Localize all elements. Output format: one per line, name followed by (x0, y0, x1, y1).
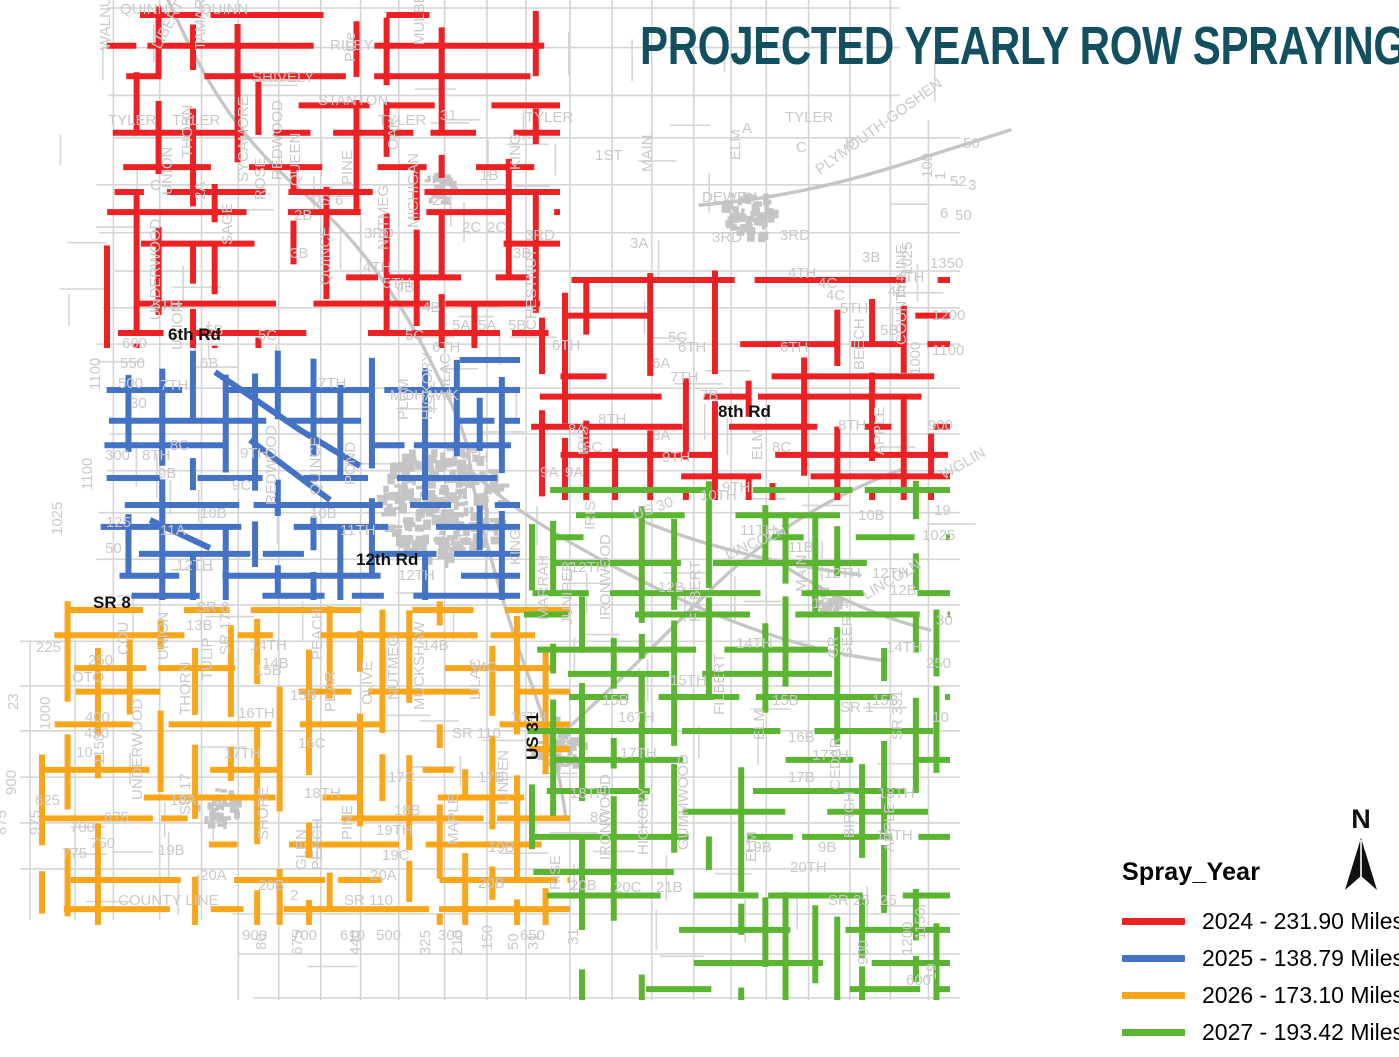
road-label: 1100 (932, 342, 964, 359)
urban-block (463, 488, 467, 499)
road-label: ELM (727, 129, 744, 160)
road-label: 900 (3, 770, 20, 795)
road-label: 8C (772, 439, 791, 456)
road-label: 5A (478, 317, 496, 334)
urban-block (474, 493, 482, 503)
road-label: 80 (253, 933, 270, 950)
road-label: 550 (120, 355, 145, 372)
road-label: 6 (940, 205, 948, 222)
road-label: 6B (200, 355, 218, 372)
road-label: 225 (36, 639, 61, 656)
road-label: C (796, 139, 807, 156)
urban-block (426, 511, 435, 517)
road-label: MULBERRY (411, 0, 428, 45)
road-label: 19TH (876, 827, 913, 844)
road-label: 1150 (91, 733, 108, 765)
urban-block (427, 176, 431, 181)
road-label: GUMMWOOD (675, 754, 692, 850)
legend-swatch-2027 (1122, 1029, 1185, 1036)
urban-block (402, 454, 413, 462)
road-label: 12TH (176, 557, 213, 574)
road-label: 2A (192, 182, 209, 200)
legend-label-2025: 2025 - 138.79 Miles (1202, 945, 1399, 972)
road-label: COUNTY LINE (118, 892, 219, 909)
urban-block (483, 492, 487, 501)
road-label: 15B (602, 692, 629, 709)
road-label: 12TH (398, 567, 435, 584)
road-label: 250 (926, 655, 951, 672)
road-label: MAIN (793, 555, 810, 593)
road-label: 1025 (899, 242, 916, 275)
road-label: 2A (432, 192, 450, 209)
road-label: DEWEY (702, 189, 757, 206)
road-label: 4C (818, 275, 837, 292)
road-label: US 6 (310, 192, 343, 209)
urban-block (423, 535, 429, 545)
urban-block (763, 193, 769, 196)
urban-block (209, 810, 216, 815)
road-label: SAGE (219, 203, 236, 245)
urban-block (215, 788, 220, 791)
urban-block (448, 553, 454, 563)
road-label: SR 25 (828, 892, 870, 909)
road-label: 19B (158, 842, 185, 859)
road-label: 6TH (552, 337, 580, 354)
road-label: 25 (880, 892, 897, 909)
road-label: ELM (751, 709, 768, 740)
road-label: KING (507, 528, 524, 565)
road-label: 5C (258, 327, 277, 344)
road-label: TAMARACK (192, 0, 209, 50)
road-label: 7TH (670, 369, 698, 386)
road-label: 5TH (383, 275, 411, 292)
road-label: BEECH (851, 318, 868, 370)
road-label: 12B (658, 579, 685, 596)
road-label: 20B (478, 875, 505, 892)
road-label: SR 17 (217, 613, 234, 655)
road-label: 9B (818, 839, 836, 856)
road-label: 20A (200, 867, 227, 884)
road-label: 5A (452, 317, 470, 334)
road-label: THORN (177, 662, 194, 715)
road-label: GLEN (293, 829, 310, 870)
urban-block (387, 474, 394, 485)
road-label: STANTON (318, 92, 388, 109)
urban-block (482, 537, 487, 547)
road-label: ROSE (252, 157, 269, 200)
road-label: TYLER (785, 109, 834, 126)
road-label: 1000 (907, 342, 924, 375)
road-label: 3 (968, 177, 976, 194)
road-label: LILAC (467, 658, 484, 700)
urban-block (495, 484, 504, 491)
road-label: 210 (449, 930, 466, 955)
road-label: 3RD (525, 227, 555, 244)
major-road-label: SR 8 (93, 593, 131, 612)
road-label: 15B (772, 692, 799, 709)
road-label: SR 17 (177, 773, 194, 815)
road-label: PINE (339, 805, 356, 840)
legend-item-2025[interactable]: 2025 - 138.79 Miles (1118, 940, 1393, 977)
road-label: 10B (200, 505, 227, 522)
road-label: 20B (258, 877, 285, 894)
urban-block (423, 519, 431, 530)
road-label: 52 (950, 173, 967, 190)
urban-block (757, 212, 765, 216)
urban-block (389, 524, 395, 532)
road-label: SYCAMORE (235, 96, 252, 182)
road-label: 2C (462, 219, 481, 236)
road-label: LILAC (437, 353, 454, 395)
road-label: SHIVELY (252, 69, 314, 86)
road-label: 17C (388, 769, 416, 786)
urban-block (394, 484, 404, 487)
road-label: 1025 (922, 527, 955, 544)
road-label: 17TH (812, 747, 849, 764)
road-label: FILBERT (711, 654, 728, 715)
road-label: 19B (745, 839, 772, 856)
urban-block (405, 465, 411, 475)
road-label: 12TH (824, 565, 861, 582)
road-label: 3RD (780, 227, 810, 244)
road-label: KING (507, 133, 524, 170)
urban-block (439, 469, 444, 472)
road-label: 1150 (912, 908, 929, 940)
road-label: UNION (159, 147, 176, 195)
road-label: 150 (479, 925, 496, 950)
road-label: 9A (565, 464, 583, 481)
urban-block (764, 219, 768, 227)
road-label: 15TH (670, 672, 707, 689)
urban-block (571, 739, 576, 745)
urban-block (230, 805, 239, 813)
legend-label-2026: 2026 - 173.10 Miles (1202, 982, 1399, 1009)
road-label: 50 (105, 540, 122, 557)
road-label: SR 110 (452, 725, 501, 742)
road-label: WGLIN (938, 444, 989, 483)
road-label: PINE (339, 150, 356, 185)
road-label: 1100 (87, 358, 104, 390)
urban-block (758, 234, 765, 243)
road-label: 1100 (79, 458, 96, 490)
road-label: 11A (160, 522, 186, 539)
road-label: NUTMEG (385, 635, 402, 700)
road-label: 31 (565, 928, 582, 945)
road-label: 1025 (49, 502, 66, 535)
map-page: QUINNQUINNWALNUTLIBERTYTAMARACKSHIVELYRI… (0, 0, 1399, 1057)
urban-block (464, 507, 469, 516)
urban-block (464, 465, 470, 469)
urban-block (445, 558, 448, 568)
road-label: 250 (88, 652, 113, 669)
road-label: 17TH (620, 745, 657, 762)
urban-block (748, 227, 756, 234)
road-label: REDWOOD (263, 425, 280, 505)
road-label: 6A (652, 355, 670, 372)
urban-block (209, 802, 217, 806)
road-label: FILBERT (687, 561, 704, 622)
urban-block (390, 464, 396, 474)
legend-item-2024[interactable]: 2024 - 231.90 Miles (1118, 903, 1393, 940)
urban-block (429, 471, 439, 476)
urban-block (456, 502, 465, 506)
road-label: 4TH (788, 265, 816, 282)
road-label: OAK (385, 118, 402, 150)
road-label: QUINCE (307, 437, 324, 495)
road-label: 325 (417, 930, 434, 955)
urban-block (400, 539, 412, 544)
urban-block (449, 181, 457, 187)
road-label: 4B (422, 299, 440, 316)
road-label: COU (115, 622, 132, 655)
road-label: TYLER (108, 112, 157, 129)
road-label: 3A (630, 235, 648, 252)
urban-block (444, 458, 452, 467)
road-label: UNDERWOOD (129, 698, 146, 800)
urban-block (465, 501, 468, 506)
road-label: 500 (118, 375, 143, 392)
road-label: RISE (547, 855, 564, 890)
road-label: 19 (934, 502, 951, 519)
road-label: 5TH (840, 300, 868, 317)
road-label: 1000 (37, 697, 54, 730)
road-label: IRONWOOD (597, 534, 614, 620)
road-label: MAPLE (445, 794, 462, 845)
road-label: CHESTNUT (523, 248, 540, 330)
major-road-label: US 31 (523, 713, 542, 760)
road-label: 21B (656, 879, 683, 896)
road-label: 7TH (318, 375, 346, 392)
urban-block (763, 197, 768, 206)
urban-block (438, 548, 449, 559)
road-label: SR 331 (889, 690, 906, 740)
urban-block (747, 216, 754, 223)
road-label: MUCKSHAW (411, 621, 428, 710)
road-label: 6TH (780, 339, 808, 356)
road-label: 100 (919, 153, 936, 178)
road-label: 1ST (595, 147, 623, 164)
urban-block (208, 821, 216, 828)
road-label: 10B (858, 507, 885, 524)
urban-block (381, 512, 384, 517)
road-label: PEACH (309, 818, 326, 870)
road-label: 2C (487, 219, 506, 236)
urban-block (557, 735, 563, 739)
legend-item-2026[interactable]: 2026 - 173.10 Miles (1118, 977, 1393, 1014)
road-label: HICKORY (419, 352, 436, 420)
urban-block (485, 509, 489, 519)
road-label: HICKORY (635, 787, 652, 855)
road-label: 50 (955, 207, 972, 224)
road-label: 8A (652, 427, 670, 444)
road-label: OLIVE (359, 661, 376, 705)
road-label: 8TH (598, 411, 626, 428)
road-label: 675 (289, 930, 306, 955)
road-label: 20A (370, 867, 397, 884)
urban-block (465, 481, 475, 488)
road-label: 2B (294, 207, 312, 224)
north-arrow-icon (1335, 836, 1387, 892)
road-label: C (150, 177, 161, 194)
urban-block (771, 210, 779, 219)
urban-block (222, 816, 231, 820)
road-label: 31 (440, 107, 457, 124)
north-arrow: N (1335, 806, 1387, 888)
road-label: 18TH (570, 785, 607, 802)
road-label: 10B (310, 505, 337, 522)
road-label: ELM (749, 429, 766, 460)
urban-block (403, 517, 414, 523)
road-label: PLUM (395, 378, 412, 420)
road-label: 5C (668, 329, 687, 346)
urban-block (386, 504, 392, 513)
road-label: 30 (130, 395, 147, 412)
road-label: NUTMEG (375, 185, 392, 250)
road-label: 15B (290, 687, 317, 704)
road-label: 10 (932, 709, 949, 726)
urban-block (567, 739, 571, 744)
urban-block (442, 181, 450, 186)
urban-block (409, 488, 415, 497)
road-label: 9TH (460, 449, 488, 466)
road-label: 9TH (662, 449, 690, 466)
road-label: 14TH (736, 635, 773, 652)
urban-block (415, 525, 424, 532)
urban-block (383, 486, 389, 493)
road-label: QUEEN (287, 133, 304, 186)
road-label: 23 (5, 693, 22, 710)
road-label: 600 (122, 335, 147, 352)
road-label: 9C (232, 477, 251, 494)
road-label: 20TH (790, 859, 827, 876)
legend-rows: 2024 - 231.90 Miles2025 - 138.79 Miles20… (1118, 903, 1393, 1051)
urban-block (405, 490, 409, 495)
road-label: JUNIPER (559, 561, 576, 625)
road-label: 5C (405, 327, 424, 344)
road-label: 19 (923, 963, 940, 980)
urban-block (415, 513, 421, 521)
legend-item-2027[interactable]: 2027 - 193.42 Miles (1118, 1014, 1393, 1051)
road-label: 14TH (250, 637, 287, 654)
urban-block (722, 206, 729, 210)
road-label: 16TH (238, 705, 275, 722)
road-label: 11TH (340, 522, 376, 539)
road-label: 19TH (376, 822, 413, 839)
road-label: LINDEN (495, 750, 512, 805)
road-label: PEACH (309, 608, 326, 660)
urban-block (221, 804, 224, 810)
road-label: 30 (936, 612, 953, 629)
road-label: 15B (255, 662, 282, 679)
road-label: 19C (382, 847, 410, 864)
road-label: 875 (0, 810, 10, 835)
major-road-label: 6th Rd (168, 325, 221, 344)
road-label: 1B (480, 167, 498, 184)
urban-block (390, 492, 400, 501)
road-label: 440 (347, 930, 364, 955)
road-label: SR 110 (344, 892, 393, 909)
road-label: Pine (342, 32, 359, 62)
road-label: 8TH (142, 447, 170, 464)
road-label: 50 (963, 135, 980, 152)
legend-label-2024: 2024 - 231.90 Miles (1202, 908, 1399, 935)
map-canvas[interactable]: QUINNQUINNWALNUTLIBERTYTAMARACKSHIVELYRI… (0, 0, 1100, 1020)
urban-block (438, 497, 444, 502)
urban-block (416, 460, 419, 464)
road-label: 8TH (838, 417, 866, 434)
urban-block (228, 790, 234, 794)
road-label: 10TH (700, 487, 737, 504)
road-label: PEAR (322, 671, 339, 712)
road-label: OTO (72, 669, 104, 686)
major-road-label: 12th Rd (356, 550, 418, 569)
road-label: 14TH (886, 639, 923, 656)
urban-block (442, 487, 450, 494)
road-label: 2 (290, 887, 298, 904)
urban-block (732, 206, 739, 210)
road-label: 20B (570, 877, 597, 894)
legend-label-2027: 2027 - 193.42 Miles (1202, 1019, 1399, 1046)
road-label: 19B (488, 839, 515, 856)
road-label: THORN (179, 105, 196, 158)
urban-block (223, 825, 226, 829)
urban-block (448, 518, 459, 524)
road-label: 975 (27, 810, 44, 835)
urban-block (399, 503, 407, 514)
road-label: 3B (862, 249, 880, 266)
road-label: POND (342, 441, 359, 485)
urban-block (221, 789, 227, 792)
road-label: 9A (540, 464, 558, 481)
road-label: QUINCE (317, 227, 334, 285)
urban-block (732, 214, 739, 223)
road-label: 3RD (712, 229, 742, 246)
road-label: MAIN (639, 135, 656, 173)
road-label: WALNUT (97, 0, 114, 50)
road-label: UNION (155, 612, 172, 660)
road-label: 17TH (224, 745, 261, 762)
road-label: 18TH (878, 785, 915, 802)
road-label: CR (825, 636, 842, 658)
urban-block (470, 507, 474, 513)
road-label: APPLE (871, 407, 888, 455)
road-label: 16B (788, 729, 815, 746)
road-label: 400 (85, 709, 110, 726)
urban-block (412, 540, 423, 550)
road-label: REDWOOD (269, 100, 286, 180)
road-label: 8C (170, 437, 189, 454)
road-label: BIRCH (841, 791, 858, 838)
road-label: 18TH (304, 785, 341, 802)
road-label: 3B (290, 245, 308, 262)
urban-block (377, 495, 388, 498)
road-label: 4TH (363, 259, 391, 276)
urban-block (448, 496, 460, 500)
urban-block (747, 234, 755, 242)
road-label: 11TH (440, 532, 476, 549)
legend-swatch-2026 (1122, 992, 1185, 999)
road-label: 18B (394, 802, 421, 819)
urban-block (384, 498, 389, 502)
urban-block (488, 469, 498, 474)
road-label: 8A (568, 421, 586, 438)
road-label: MARRAH (535, 555, 552, 620)
road-label: 900 (855, 940, 872, 965)
road-label: 625 (35, 792, 60, 809)
road-label: 16TH (618, 709, 655, 726)
road-label: 9B (158, 465, 176, 482)
road-label: 13B (186, 617, 213, 634)
